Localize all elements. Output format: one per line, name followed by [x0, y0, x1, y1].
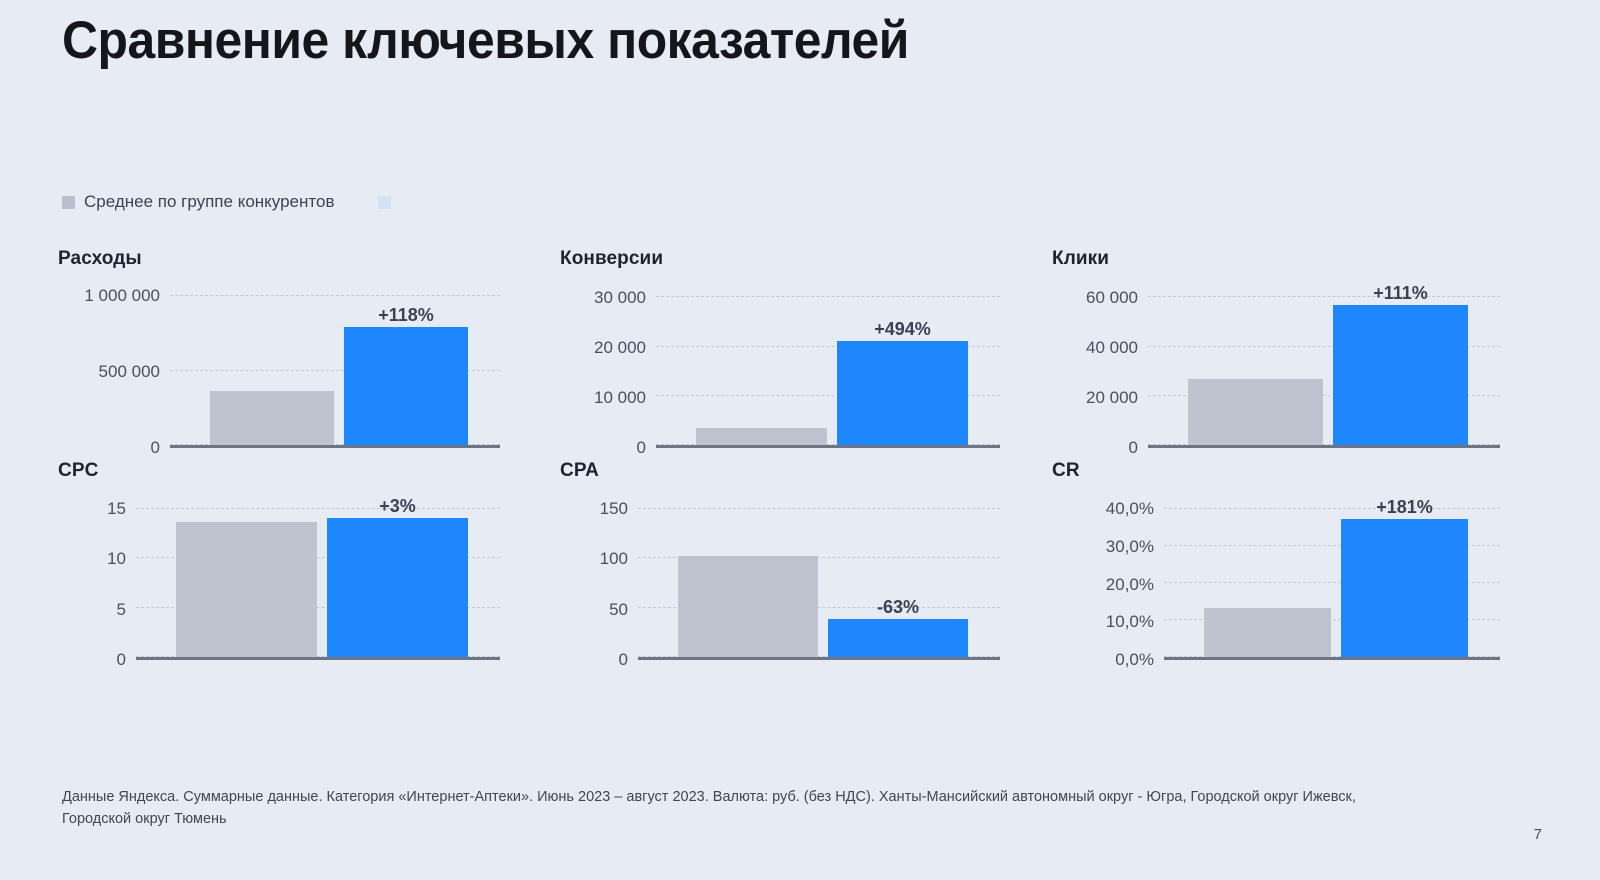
bar-item[interactable] — [210, 285, 334, 445]
chart-rashody: Расходы 0500 0001 000 000 +118% — [0, 248, 500, 448]
bar-group: +181% — [1204, 497, 1468, 657]
bar-item[interactable]: +181% — [1341, 497, 1468, 657]
bar-item[interactable]: +118% — [344, 285, 468, 445]
y-axis-tick-label: 30,0% — [1106, 537, 1154, 557]
y-axis: 050100150 — [560, 497, 638, 660]
chart-title: CPA — [560, 460, 1000, 482]
charts-grid: Расходы 0500 0001 000 000 +118% Конверси… — [0, 248, 1600, 660]
bar-competitors[interactable] — [210, 391, 334, 445]
y-axis-tick-label: 20,0% — [1106, 575, 1154, 595]
bar-client[interactable] — [344, 327, 468, 445]
y-axis-tick-label: 10 — [107, 549, 126, 569]
plot-area-wrapper: 051015 +3% — [58, 497, 500, 660]
bar-item[interactable]: +494% — [837, 285, 968, 445]
y-axis: 020 00040 00060 000 — [1052, 285, 1148, 448]
plot-area-wrapper: 0500 0001 000 000 +118% — [58, 285, 500, 448]
bar-item[interactable] — [696, 285, 827, 445]
bar-client[interactable] — [327, 518, 468, 657]
legend-item-client — [378, 196, 400, 209]
y-axis-tick-label: 0 — [637, 438, 646, 458]
bar-item[interactable]: -63% — [828, 497, 968, 657]
y-axis-tick-label: 15 — [107, 499, 126, 519]
chart-legend: Среднее по группе конкурентов — [62, 192, 400, 212]
bar-group: +118% — [210, 285, 468, 445]
y-axis-tick-label: 30 000 — [594, 288, 646, 308]
y-axis-tick-label: 0 — [151, 438, 160, 458]
bar-value-label: -63% — [828, 597, 968, 618]
bar-value-label: +118% — [344, 305, 468, 326]
chart-cpc: CPC 051015 +3% — [0, 460, 500, 660]
chart-title: Конверсии — [560, 248, 1000, 270]
y-axis: 0,0%10,0%20,0%30,0%40,0% — [1052, 497, 1164, 660]
bar-group: +111% — [1188, 285, 1468, 445]
y-axis-tick-label: 5 — [117, 600, 126, 620]
y-axis-tick-label: 10 000 — [594, 388, 646, 408]
legend-swatch-blue-icon — [378, 196, 391, 209]
bar-client[interactable] — [828, 619, 968, 657]
bar-item[interactable] — [176, 497, 317, 657]
bar-item[interactable] — [678, 497, 818, 657]
bar-competitors[interactable] — [1204, 608, 1331, 657]
bar-group: +494% — [696, 285, 968, 445]
y-axis-tick-label: 50 — [609, 600, 628, 620]
chart-title: Расходы — [58, 248, 500, 270]
bar-item[interactable]: +3% — [327, 497, 468, 657]
plot-area: +494% — [656, 285, 1000, 448]
y-axis-tick-label: 500 000 — [99, 362, 160, 382]
y-axis: 051015 — [58, 497, 136, 660]
bar-client[interactable] — [1341, 519, 1468, 657]
y-axis-tick-label: 40 000 — [1086, 338, 1138, 358]
plot-area-wrapper: 050100150 -63% — [560, 497, 1000, 660]
chart-cr: CR 0,0%10,0%20,0%30,0%40,0% +181% — [1000, 460, 1500, 660]
slide: Сравнение ключевых показателей Среднее п… — [0, 0, 1600, 880]
y-axis: 0500 0001 000 000 — [58, 285, 170, 448]
bar-value-label: +111% — [1333, 283, 1468, 304]
plot-area: +118% — [170, 285, 500, 448]
y-axis: 010 00020 00030 000 — [560, 285, 656, 448]
bar-value-label: +494% — [837, 319, 968, 340]
footnote: Данные Яндекса. Суммарные данные. Катего… — [62, 786, 1392, 831]
y-axis-tick-label: 40,0% — [1106, 499, 1154, 519]
plot-area-wrapper: 0,0%10,0%20,0%30,0%40,0% +181% — [1052, 497, 1500, 660]
plot-area: +111% — [1148, 285, 1500, 448]
bar-client[interactable] — [837, 341, 968, 445]
y-axis-tick-label: 1 000 000 — [84, 286, 160, 306]
page-title: Сравнение ключевых показателей — [62, 8, 909, 74]
bar-value-label: +181% — [1341, 497, 1468, 518]
plot-area-wrapper: 020 00040 00060 000 +111% — [1052, 285, 1500, 448]
chart-cpa: CPA 050100150 -63% — [500, 460, 1000, 660]
bar-competitors[interactable] — [696, 428, 827, 445]
bar-group: +3% — [176, 497, 468, 657]
charts-row-top: Расходы 0500 0001 000 000 +118% Конверси… — [0, 248, 1600, 448]
bar-client[interactable] — [1333, 305, 1468, 445]
y-axis-tick-label: 100 — [600, 549, 628, 569]
y-axis-tick-label: 20 000 — [1086, 388, 1138, 408]
bar-item[interactable]: +111% — [1333, 285, 1468, 445]
legend-label-competitors: Среднее по группе конкурентов — [84, 192, 334, 212]
page-number: 7 — [1534, 826, 1542, 843]
chart-kliki: Клики 020 00040 00060 000 +111% — [1000, 248, 1500, 448]
bar-competitors[interactable] — [1188, 379, 1323, 445]
chart-title: CR — [1052, 460, 1500, 482]
bar-group: -63% — [678, 497, 968, 657]
charts-row-bottom: CPC 051015 +3% CPA 050100150 -63% CR 0,0… — [0, 460, 1600, 660]
bar-value-label: +3% — [327, 496, 468, 517]
y-axis-tick-label: 0 — [117, 650, 126, 670]
y-axis-tick-label: 20 000 — [594, 338, 646, 358]
bar-item[interactable] — [1188, 285, 1323, 445]
plot-area-wrapper: 010 00020 00030 000 +494% — [560, 285, 1000, 448]
legend-swatch-gray-icon — [62, 196, 75, 209]
legend-item-competitors: Среднее по группе конкурентов — [62, 192, 334, 212]
y-axis-tick-label: 0 — [619, 650, 628, 670]
y-axis-tick-label: 0 — [1129, 438, 1138, 458]
bar-competitors[interactable] — [176, 522, 317, 657]
bar-competitors[interactable] — [678, 556, 818, 657]
y-axis-tick-label: 0,0% — [1115, 650, 1154, 670]
y-axis-tick-label: 150 — [600, 499, 628, 519]
bar-item[interactable] — [1204, 497, 1331, 657]
plot-area: +181% — [1164, 497, 1500, 660]
chart-title: CPC — [58, 460, 500, 482]
y-axis-tick-label: 10,0% — [1106, 612, 1154, 632]
y-axis-tick-label: 60 000 — [1086, 288, 1138, 308]
chart-title: Клики — [1052, 248, 1500, 270]
plot-area: -63% — [638, 497, 1000, 660]
chart-konversii: Конверсии 010 00020 00030 000 +494% — [500, 248, 1000, 448]
plot-area: +3% — [136, 497, 500, 660]
